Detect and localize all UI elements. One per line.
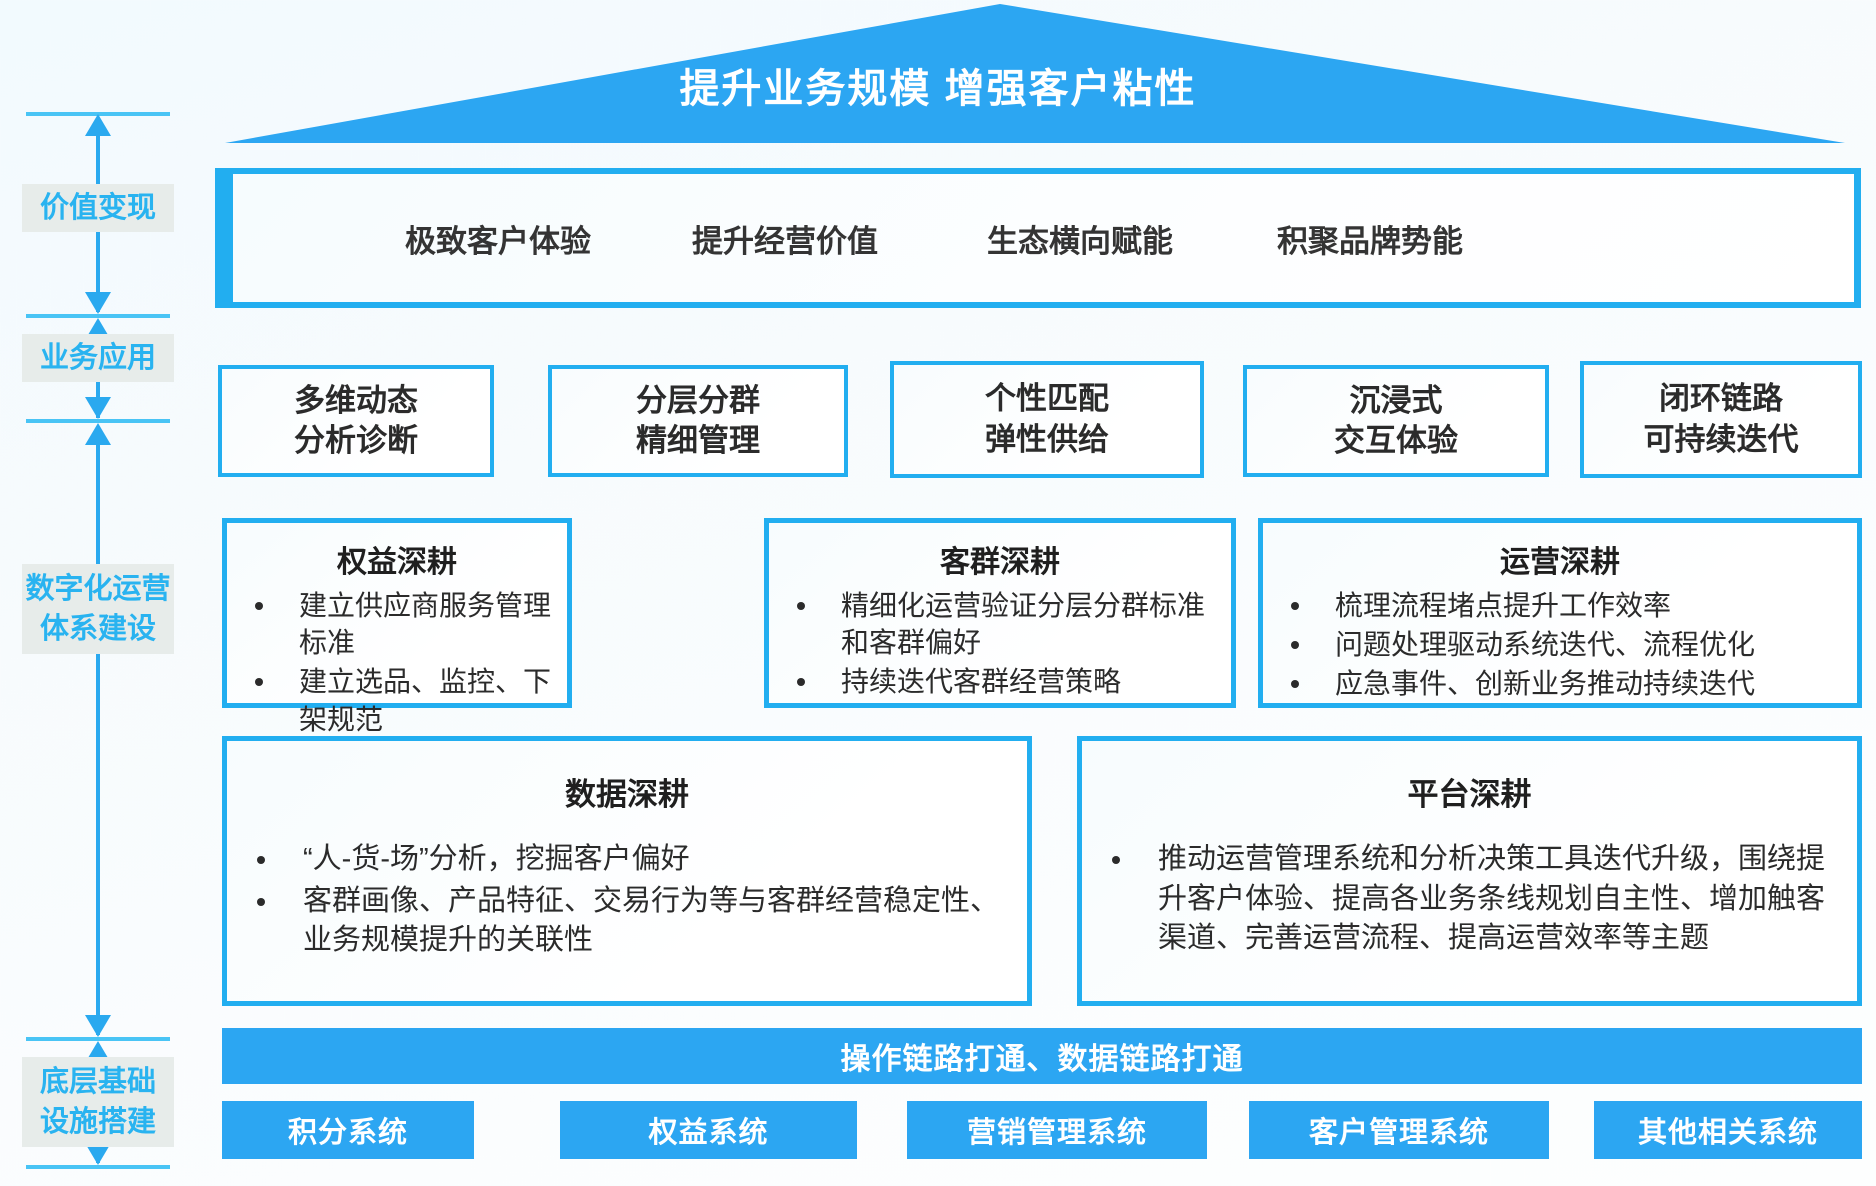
app-card-line2: 可持续迭代 <box>1644 420 1799 460</box>
infra-banner-label: 操作链路打通、数据链路打通 <box>841 1034 1244 1078</box>
rail-label-line: 价值变现 <box>22 189 174 227</box>
app-card-line1: 沉浸式 <box>1350 381 1443 421</box>
system-chip-marketing[interactable]: 营销管理系统 <box>907 1101 1207 1159</box>
system-chip-points[interactable]: 积分系统 <box>222 1101 474 1159</box>
bullet-item: 应急事件、创新业务推动持续迭代 <box>1273 665 1847 702</box>
bullet-item: “人-货-场”分析，挖掘客户偏好 <box>237 840 1017 880</box>
deep-card-title: 数据深耕 <box>237 769 1017 814</box>
infra-banner: 操作链路打通、数据链路打通 <box>222 1028 1862 1084</box>
deep-card-bullets: “人-货-场”分析，挖掘客户偏好 客群画像、产品特征、交易行为等与客群经营稳定性… <box>237 840 1017 961</box>
value-item-0: 极致客户体验 <box>405 216 692 261</box>
rail-label-line: 设施搭建 <box>22 1102 174 1142</box>
rail-arrow-up-1 <box>85 114 111 136</box>
roof-title: 提升业务规模 增强客户粘性 <box>0 56 1876 114</box>
deep-card-bullets: 推动运营管理系统和分析决策工具迭代升级，围绕提升客户体验、提高各业务条线规划自主… <box>1092 840 1847 959</box>
app-card-line2: 分析诊断 <box>294 421 418 461</box>
bullet-item: 客群画像、产品特征、交易行为等与客群经营稳定性、业务规模提升的关联性 <box>237 882 1017 961</box>
deep-card-bullets: 建立供应商服务管理标准 建立选品、监控、下架规范 <box>237 587 557 738</box>
deep-card-customer-group[interactable]: 客群深耕 精细化运营验证分层分群标准和客群偏好 持续迭代客群经营策略 <box>764 518 1236 708</box>
deep-card-operations[interactable]: 运营深耕 梳理流程堵点提升工作效率 问题处理驱动系统迭代、流程优化 应急事件、创… <box>1258 518 1862 708</box>
value-item-3: 积聚品牌势能 <box>1277 216 1463 261</box>
deep-card-data[interactable]: 数据深耕 “人-货-场”分析，挖掘客户偏好 客群画像、产品特征、交易行为等与客群… <box>222 736 1032 1006</box>
bullet-item: 精细化运营验证分层分群标准和客群偏好 <box>779 587 1221 661</box>
bullet-item: 问题处理驱动系统迭代、流程优化 <box>1273 626 1847 663</box>
diagram-canvas: 提升业务规模 增强客户粘性 价值变现 业务应用 数字化运营 体系建设 <box>0 0 1876 1186</box>
app-card-line1: 个性匹配 <box>985 379 1109 419</box>
rail-tick-5 <box>26 1165 170 1169</box>
rail-label-line: 体系建设 <box>22 609 174 649</box>
rail-arrow-up-3 <box>85 423 111 445</box>
bullet-item: 梳理流程堵点提升工作效率 <box>1273 587 1847 624</box>
value-item-2: 生态横向赋能 <box>987 216 1277 261</box>
bullet-item: 建立供应商服务管理标准 <box>237 587 557 661</box>
bullet-item: 持续迭代客群经营策略 <box>779 663 1221 700</box>
system-chip-label: 权益系统 <box>648 1109 768 1151</box>
bullet-item: 推动运营管理系统和分析决策工具迭代升级，围绕提升客户体验、提高各业务条线规划自主… <box>1092 840 1847 959</box>
system-chip-label: 积分系统 <box>288 1109 408 1151</box>
value-realization-panel: 极致客户体验 提升经营价值 生态横向赋能 积聚品牌势能 <box>215 168 1861 308</box>
app-card-immersive-experience[interactable]: 沉浸式 交互体验 <box>1243 365 1549 477</box>
app-card-line1: 多维动态 <box>294 381 418 421</box>
rail-axis-3 <box>96 443 100 1035</box>
stage-rail: 价值变现 业务应用 数字化运营 体系建设 底层基础 设施搭建 <box>18 112 178 1172</box>
rail-label-business-application: 业务应用 <box>22 334 174 382</box>
deep-card-title: 平台深耕 <box>1092 769 1847 814</box>
rail-arrow-down-3 <box>85 1015 111 1037</box>
deep-card-title: 权益深耕 <box>237 537 557 581</box>
deep-card-bullets: 梳理流程堵点提升工作效率 问题处理驱动系统迭代、流程优化 应急事件、创新业务推动… <box>1273 587 1847 703</box>
system-chip-label: 营销管理系统 <box>967 1109 1147 1151</box>
system-chip-rights[interactable]: 权益系统 <box>560 1101 857 1159</box>
app-card-line1: 分层分群 <box>636 381 760 421</box>
app-card-segmentation[interactable]: 分层分群 精细管理 <box>548 365 848 477</box>
rail-label-line: 数字化运营 <box>22 569 174 609</box>
roof-triangle: 提升业务规模 增强客户粘性 <box>0 0 1876 150</box>
app-card-personalized-matching[interactable]: 个性匹配 弹性供给 <box>890 361 1204 478</box>
system-chip-label: 客户管理系统 <box>1309 1109 1489 1151</box>
rail-label-line: 底层基础 <box>22 1062 174 1102</box>
rail-label-infrastructure: 底层基础 设施搭建 <box>22 1057 174 1147</box>
deep-card-title: 运营深耕 <box>1273 537 1847 581</box>
rail-arrow-down-1 <box>85 292 111 314</box>
system-chip-label: 其他相关系统 <box>1638 1109 1818 1151</box>
deep-card-title: 客群深耕 <box>779 537 1221 581</box>
rail-label-digital-operations: 数字化运营 体系建设 <box>22 564 174 654</box>
bullet-item: 建立选品、监控、下架规范 <box>237 663 557 737</box>
app-card-multidim-analysis[interactable]: 多维动态 分析诊断 <box>218 365 494 477</box>
deep-card-platform[interactable]: 平台深耕 推动运营管理系统和分析决策工具迭代升级，围绕提升客户体验、提高各业务条… <box>1077 736 1862 1006</box>
deep-card-bullets: 精细化运营验证分层分群标准和客群偏好 持续迭代客群经营策略 <box>779 587 1221 701</box>
app-card-line2: 交互体验 <box>1334 421 1458 461</box>
rail-label-line: 业务应用 <box>22 339 174 377</box>
system-chip-other[interactable]: 其他相关系统 <box>1594 1101 1862 1159</box>
value-item-1: 提升经营价值 <box>692 216 987 261</box>
app-card-line2: 弹性供给 <box>985 420 1109 460</box>
app-card-line1: 闭环链路 <box>1659 379 1783 419</box>
deep-card-rights[interactable]: 权益深耕 建立供应商服务管理标准 建立选品、监控、下架规范 <box>222 518 572 708</box>
system-chip-customer[interactable]: 客户管理系统 <box>1249 1101 1549 1159</box>
rail-label-value-realization: 价值变现 <box>22 184 174 232</box>
app-card-closed-loop[interactable]: 闭环链路 可持续迭代 <box>1580 361 1862 478</box>
app-card-line2: 精细管理 <box>636 421 760 461</box>
rail-arrow-down-2 <box>85 397 111 419</box>
